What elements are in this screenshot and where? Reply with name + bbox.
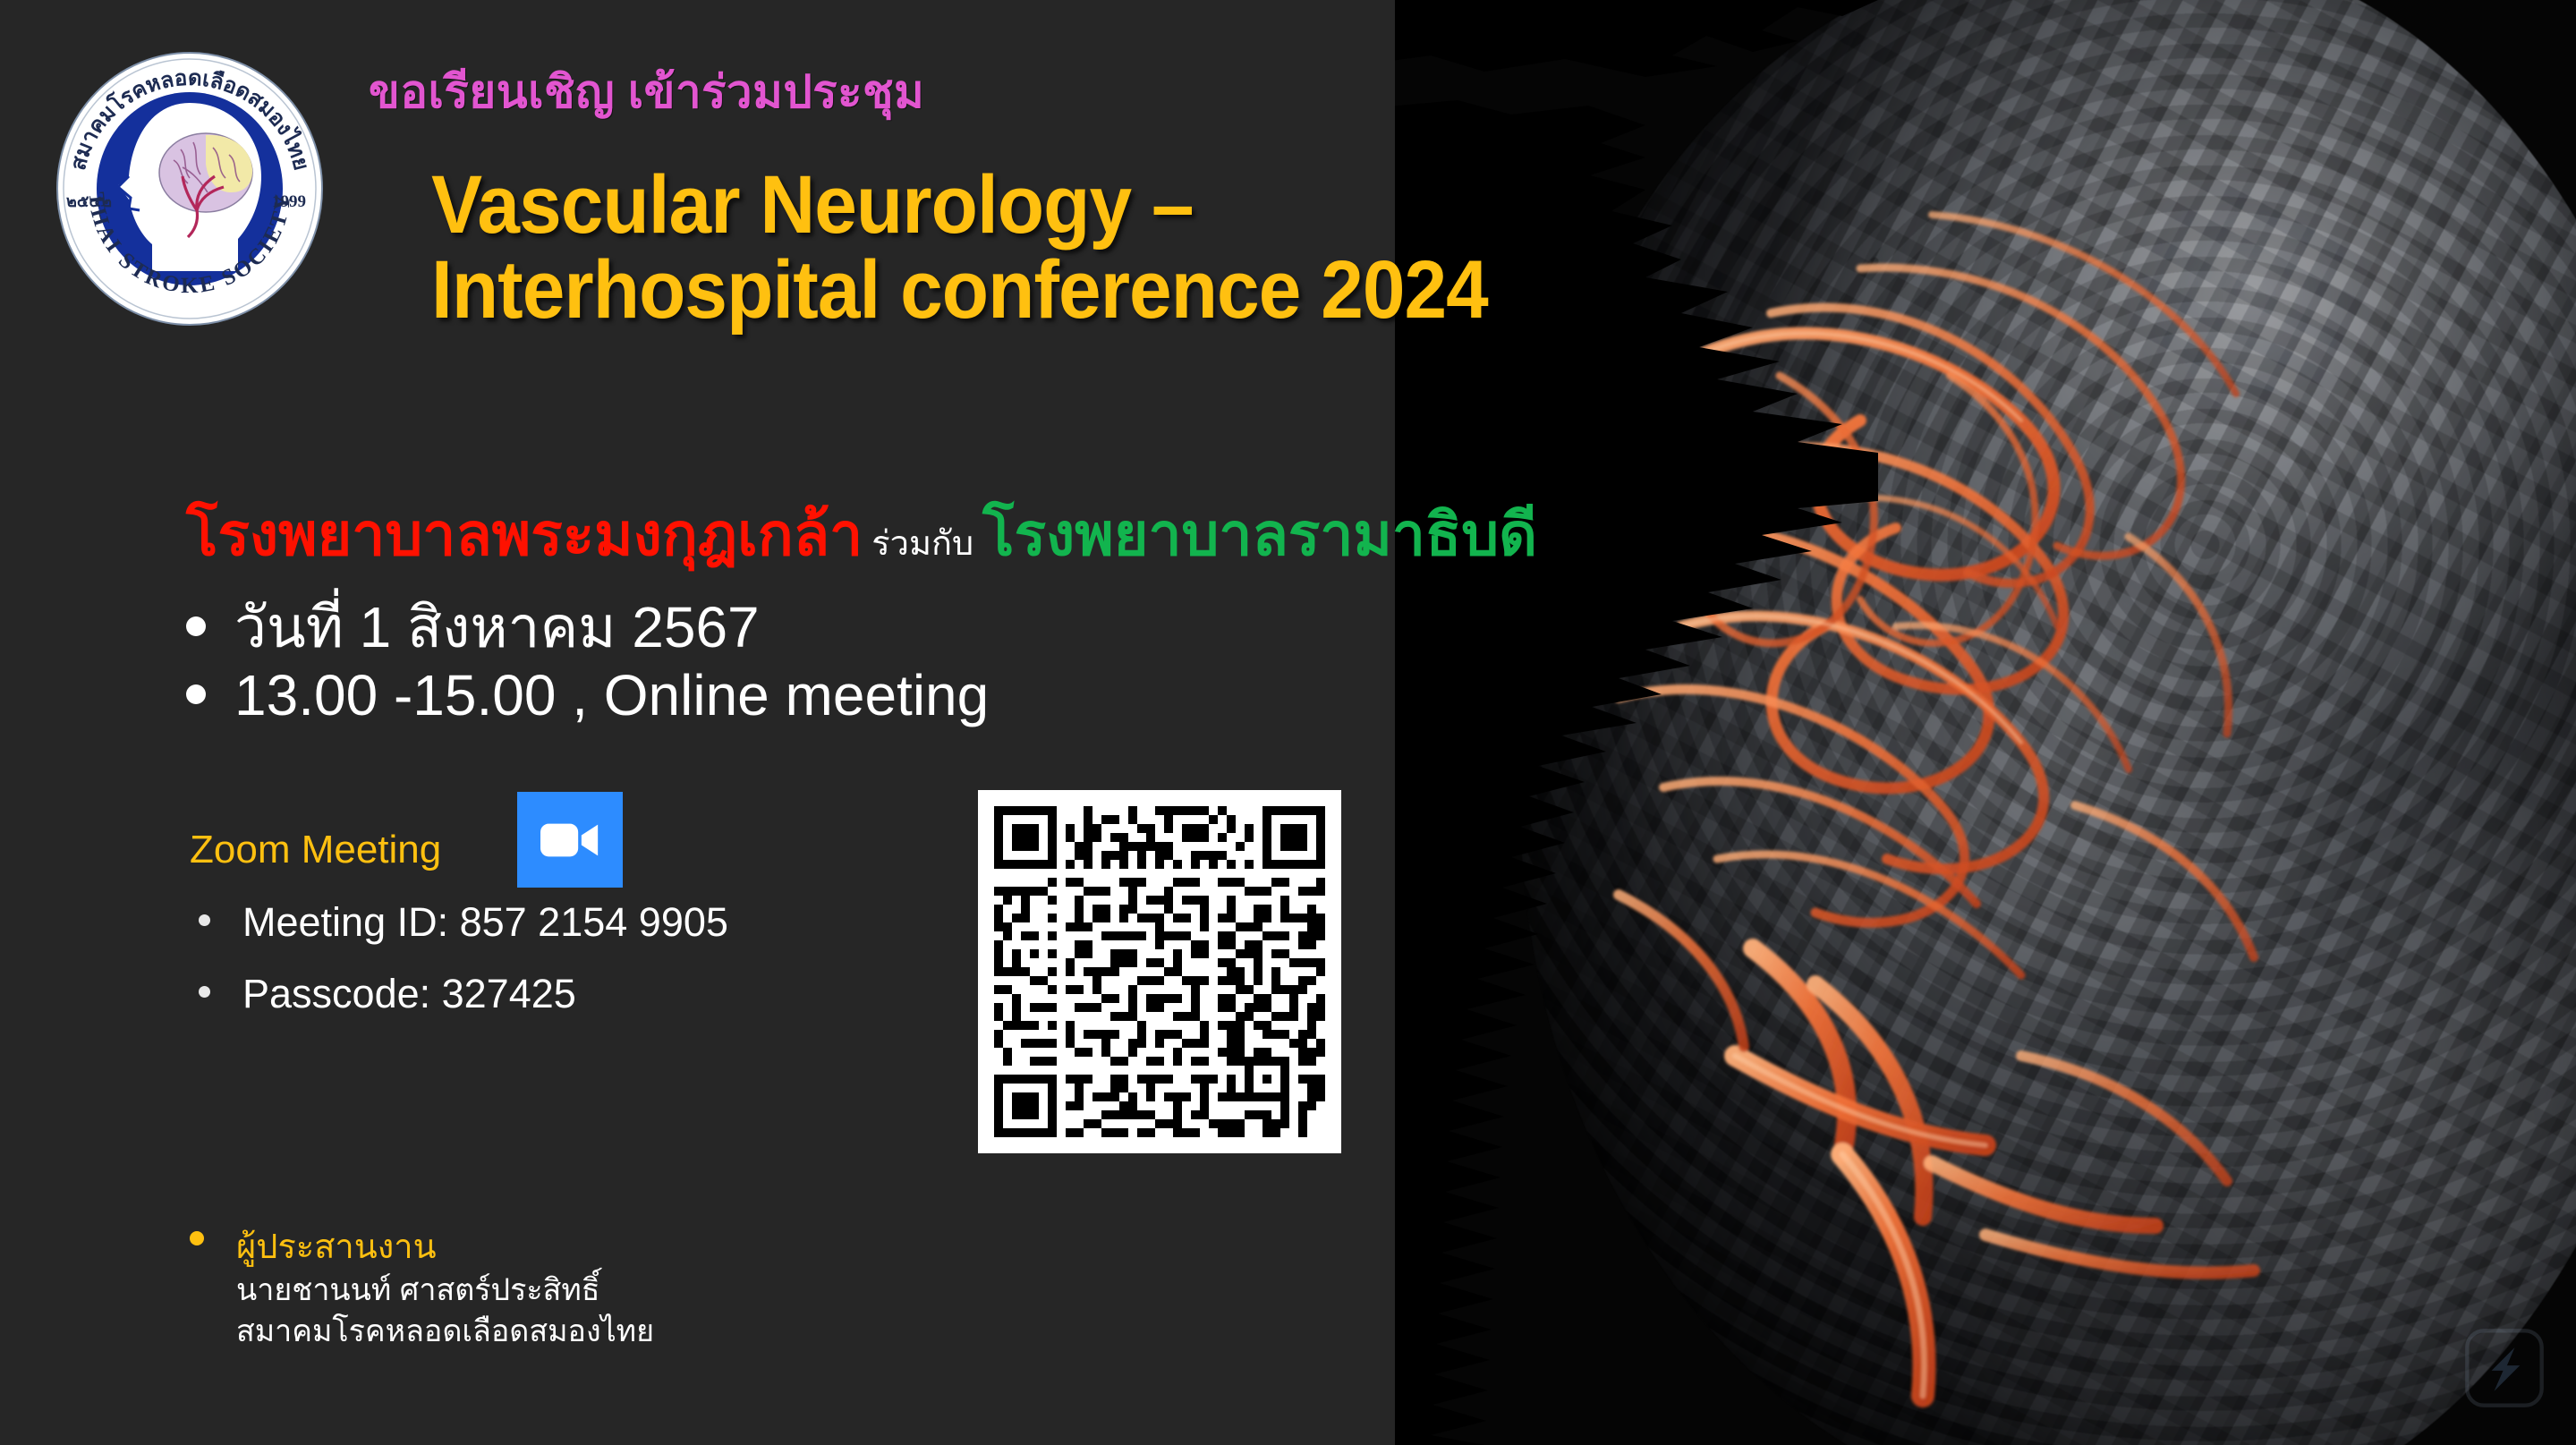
zoom-meeting-id-text: Meeting ID: 857 2154 9905 [242, 899, 728, 945]
zoom-meeting-id-row[interactable]: Meeting ID: 857 2154 9905 [199, 899, 728, 946]
bullet-dot-icon [199, 914, 210, 926]
host-hospitals-line: โรงพยาบาลพระมงกุฎเกล้าร่วมกับโรงพยาบาลรา… [186, 488, 1537, 582]
watermark-logo-icon [2463, 1327, 2546, 1409]
bullet-dot-icon [186, 684, 206, 704]
hosts-conjunction: ร่วมกับ [863, 525, 982, 563]
content-column: สมาคมโรคหลอดเลือดสมองไทย THAI STROKE SOC… [0, 0, 1539, 1445]
detail-bullet-date-text: วันที่ 1 สิงหาคม 2567 [234, 595, 760, 659]
svg-text:๒๕๔๒: ๒๕๔๒ [66, 192, 112, 211]
zoom-meeting-label: Zoom Meeting [190, 828, 441, 872]
invite-line: ขอเรียนเชิญ เข้าร่วมประชุม [369, 55, 924, 128]
zoom-passcode-row[interactable]: Passcode: 327425 [199, 971, 576, 1017]
title-line-1: Vascular Neurology – [431, 159, 1194, 251]
detail-bullet-time: 13.00 -15.00 , Online meeting [186, 662, 989, 728]
bullet-dot-icon [186, 616, 206, 636]
zoom-passcode-text: Passcode: 327425 [242, 971, 576, 1016]
title-line-2: Interhospital conference 2024 [431, 248, 1896, 333]
bullet-dot-icon [199, 986, 210, 998]
coordinator-organization: สมาคมโรคหลอดเลือดสมองไทย [236, 1306, 654, 1355]
hospital-secondary: โรงพยาบาลรามาธิบดี [982, 501, 1537, 567]
detail-bullet-time-text: 13.00 -15.00 , Online meeting [234, 663, 989, 727]
zoom-video-camera-icon[interactable] [517, 792, 623, 888]
poster-root: สมาคมโรคหลอดเลือดสมองไทย THAI STROKE SOC… [0, 0, 2576, 1445]
thai-stroke-society-logo: สมาคมโรคหลอดเลือดสมองไทย THAI STROKE SOC… [47, 49, 333, 328]
page-title: Vascular Neurology – Interhospital confe… [431, 163, 1896, 333]
hospital-primary: โรงพยาบาลพระมงกุฎเกล้า [186, 501, 863, 567]
detail-bullet-date: วันที่ 1 สิงหาคม 2567 [186, 582, 760, 673]
svg-text:1999: 1999 [272, 192, 306, 211]
qr-code[interactable] [978, 790, 1341, 1153]
bullet-dot-icon [190, 1231, 204, 1245]
